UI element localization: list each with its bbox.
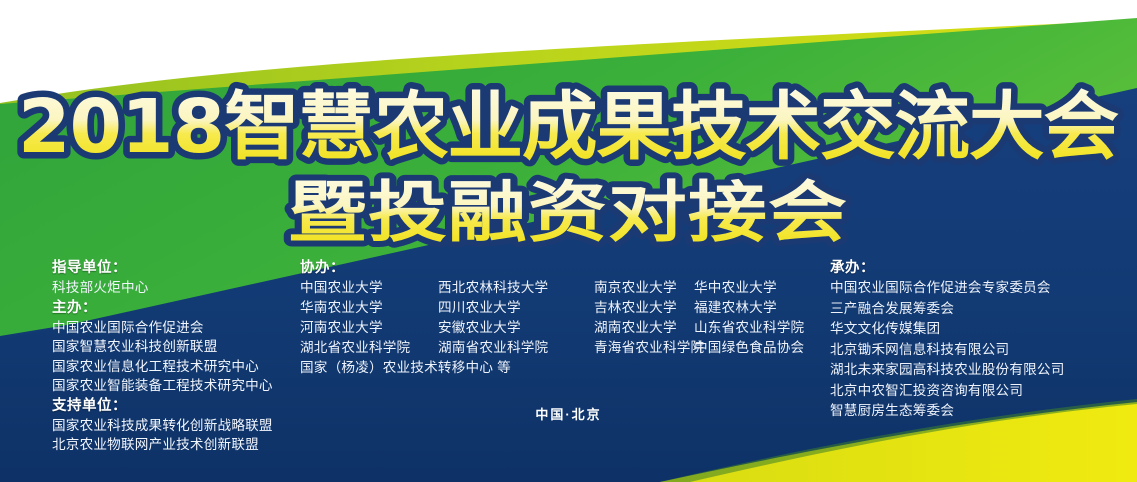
- event-location: 中国·北京: [0, 404, 1137, 423]
- list-item: 科技部火炬中心: [52, 278, 302, 298]
- list-item: 国家农业智能装备工程技术研究中心: [52, 376, 302, 396]
- list-item: 三产融合发展筹委会: [830, 299, 1130, 320]
- list-item: 河南农业大学: [300, 318, 432, 338]
- heading-undertaker: 承办：: [830, 258, 1130, 278]
- list-item-last: 国家（杨凌）农业技术转移中心 等: [300, 358, 726, 378]
- heading-host: 主办：: [52, 298, 302, 318]
- list-item: 国家智慧农业科技创新联盟: [52, 337, 302, 357]
- list-item: 北京锄禾网信息科技有限公司: [830, 340, 1130, 361]
- heading-coorganizer: 协办：: [300, 258, 820, 278]
- column-organizers-left: 指导单位： 科技部火炬中心 主办： 中国农业国际合作促进会 国家智慧农业科技创新…: [52, 258, 302, 455]
- list-item: 四川农业大学: [438, 298, 588, 318]
- list-item: 湖南省农业科学院: [438, 338, 588, 358]
- list-item: 西北农林科技大学: [438, 278, 588, 298]
- list-item: 北京中农智汇投资咨询有限公司: [830, 381, 1130, 402]
- list-item: 中国农业国际合作促进会: [52, 318, 302, 338]
- organizer-info: 指导单位： 科技部火炬中心 主办： 中国农业国际合作促进会 国家智慧农业科技创新…: [0, 258, 1137, 458]
- column-undertakers: 承办： 中国农业国际合作促进会专家委员会 三产融合发展筹委会 华文文化传媒集团 …: [830, 258, 1130, 422]
- list-item: 安徽农业大学: [438, 318, 588, 338]
- event-banner-poster: 2018智慧农业成果技术交流大会 2018智慧农业成果技术交流大会 暨投融资对接…: [0, 0, 1137, 482]
- list-item: 华文文化传媒集团: [830, 319, 1130, 340]
- list-item: 国家农业信息化工程技术研究中心: [52, 357, 302, 377]
- heading-guidance: 指导单位：: [52, 258, 302, 278]
- list-item: 湖北省农业科学院: [300, 338, 432, 358]
- list-item: 湖北未来家园高科技农业股份有限公司: [830, 360, 1130, 381]
- list-item: 中国农业大学: [300, 278, 432, 298]
- list-item: 华南农业大学: [300, 298, 432, 318]
- list-item: 中国农业国际合作促进会专家委员会: [830, 278, 1130, 299]
- list-item: 北京农业物联网产业技术创新联盟: [52, 435, 302, 455]
